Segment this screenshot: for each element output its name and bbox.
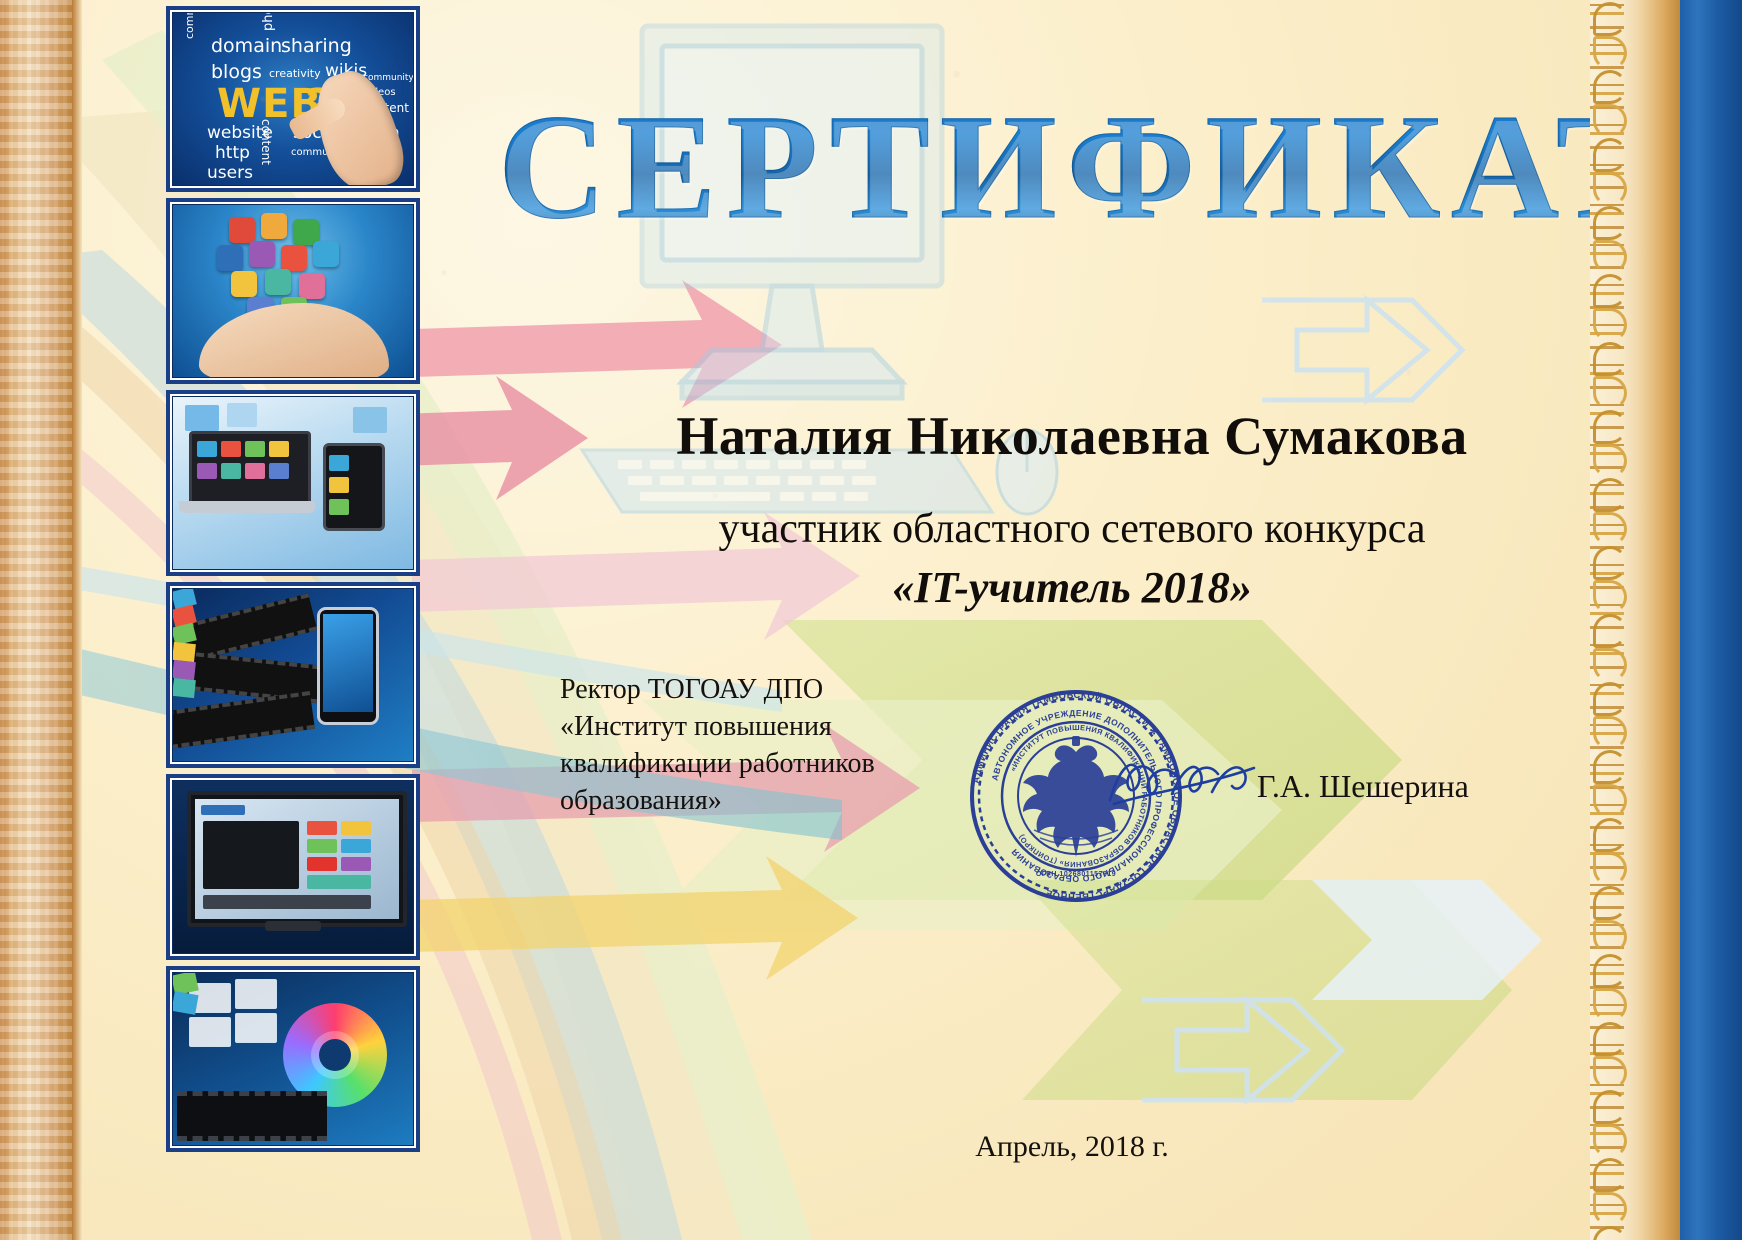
- filigree-curl: [1593, 1022, 1627, 1056]
- filigree-curl: [1593, 512, 1627, 546]
- filigree-curl: [1593, 818, 1627, 852]
- signatory-title: Ректор ТОГОАУ ДПО «Институт повышения кв…: [560, 672, 980, 820]
- certificate-date: Апрель, 2018 г.: [482, 1130, 1662, 1164]
- paper-background: comments domain photos sharing blogs cre…: [82, 0, 1590, 1240]
- signatory-name: Г.А. Шешерина: [1257, 768, 1469, 805]
- index-finger-icon: [287, 95, 349, 142]
- filigree-curl: [1593, 886, 1627, 920]
- film-strip-icon: [177, 1091, 327, 1141]
- thumbnail-phone-film: [166, 582, 420, 768]
- left-gold-border: [0, 0, 72, 1240]
- filigree-curl: [1593, 104, 1627, 138]
- filigree-curl: [1593, 1124, 1627, 1158]
- open-palm-icon: [199, 303, 389, 377]
- filigree-curl: [1593, 444, 1627, 478]
- certificate-page: comments domain photos sharing blogs cre…: [0, 0, 1742, 1240]
- sidebar-thumbnails: comments domain photos sharing blogs cre…: [166, 6, 414, 1158]
- filigree-curl: [1593, 342, 1627, 376]
- thumbnail-smart-tv: [166, 774, 420, 960]
- computer-watermark: [522, 20, 1082, 580]
- certificate-content: СЕРТИФИКАТ Наталия Николаевна Сумакова у…: [412, 0, 1590, 1240]
- left-inner-border: [72, 0, 82, 1240]
- signatory-title-line-2: «Институт повышения: [560, 709, 980, 746]
- thumbnail-devices: [166, 390, 420, 576]
- recipient-name: Наталия Николаевна Сумакова: [482, 405, 1662, 467]
- ribbon-decoration: [82, 0, 1590, 1240]
- filigree-curl: [1593, 308, 1627, 342]
- filigree-curl: [1593, 410, 1627, 444]
- handwritten-signature: [1102, 742, 1262, 822]
- right-filigree-ornament: [1590, 0, 1624, 1240]
- signatory-title-line-4: образования»: [560, 783, 980, 820]
- filigree-curl: [1593, 784, 1627, 818]
- filigree-curl: [1593, 478, 1627, 512]
- filigree-curl: [1593, 988, 1627, 1022]
- filigree-curl: [1593, 70, 1627, 104]
- filigree-curl: [1593, 614, 1627, 648]
- filigree-curl: [1593, 1056, 1627, 1090]
- svg-text:«ИНСТИТУТ ПОВЫШЕНИЯ КВАЛИФИКАЦ: «ИНСТИТУТ ПОВЫШЕНИЯ КВАЛИФИКАЦИИ РАБОТНИ…: [1008, 723, 1149, 869]
- compact-disc-icon: [283, 1003, 387, 1107]
- filigree-curl: [1593, 206, 1627, 240]
- filigree-curl: [1593, 376, 1627, 410]
- filigree-curl: [1593, 750, 1627, 784]
- signatory-title-line-3: квалификации работников: [560, 746, 980, 783]
- filigree-curl: [1593, 580, 1627, 614]
- filigree-curl: [1593, 1158, 1627, 1192]
- filigree-curl: [1593, 954, 1627, 988]
- filigree-curl: [1593, 138, 1627, 172]
- filigree-curl: [1593, 1192, 1627, 1226]
- signatory-title-line-1: Ректор ТОГОАУ ДПО: [560, 672, 980, 709]
- filigree-curl: [1593, 682, 1627, 716]
- smartphone-icon: [317, 607, 379, 725]
- thumbnail-hand-apps: [166, 198, 420, 384]
- double-headed-eagle-emblem: [1023, 736, 1129, 857]
- filigree-curl: [1593, 1090, 1627, 1124]
- filigree-curl: [1593, 274, 1627, 308]
- filigree-curl: [1593, 240, 1627, 274]
- right-blue-border: [1680, 0, 1742, 1240]
- television-icon: [187, 791, 407, 927]
- svg-text:АДМИНИСТРАЦИЯ ТАМБОВСКОЙ ОБЛАС: АДМИНИСТРАЦИЯ ТАМБОВСКОЙ ОБЛАСТИ ✻ ТАМБО…: [971, 690, 1182, 902]
- participation-line: участник областного сетевого конкурса: [482, 505, 1662, 553]
- filigree-curl: [1593, 1226, 1627, 1240]
- filigree-curl: [1593, 716, 1627, 750]
- svg-text:ОГРН 1026801157019: ОГРН 1026801157019: [1036, 871, 1116, 878]
- filigree-curl: [1593, 852, 1627, 886]
- filigree-curl: [1593, 648, 1627, 682]
- pointing-hand-icon: [304, 63, 411, 185]
- contest-name: «IT-учитель 2018»: [482, 562, 1662, 613]
- filigree-curl: [1593, 172, 1627, 206]
- official-stamp: АДМИНИСТРАЦИЯ ТАМБОВСКОЙ ОБЛАСТИ ✻ ТАМБО…: [960, 680, 1192, 912]
- certificate-title: СЕРТИФИКАТ: [498, 92, 1638, 242]
- filigree-curl: [1593, 920, 1627, 954]
- filigree-curl: [1593, 546, 1627, 580]
- filigree-curl: [1593, 2, 1627, 36]
- thumbnail-web2: comments domain photos sharing blogs cre…: [166, 6, 420, 192]
- thumbnail-cd-media: [166, 966, 420, 1152]
- svg-text:АВТОНОМНОЕ УЧРЕЖДЕНИЕ ДОПОЛНИТ: АВТОНОМНОЕ УЧРЕЖДЕНИЕ ДОПОЛНИТЕЛЬНОГО ПР…: [990, 708, 1165, 884]
- filigree-curl: [1593, 36, 1627, 70]
